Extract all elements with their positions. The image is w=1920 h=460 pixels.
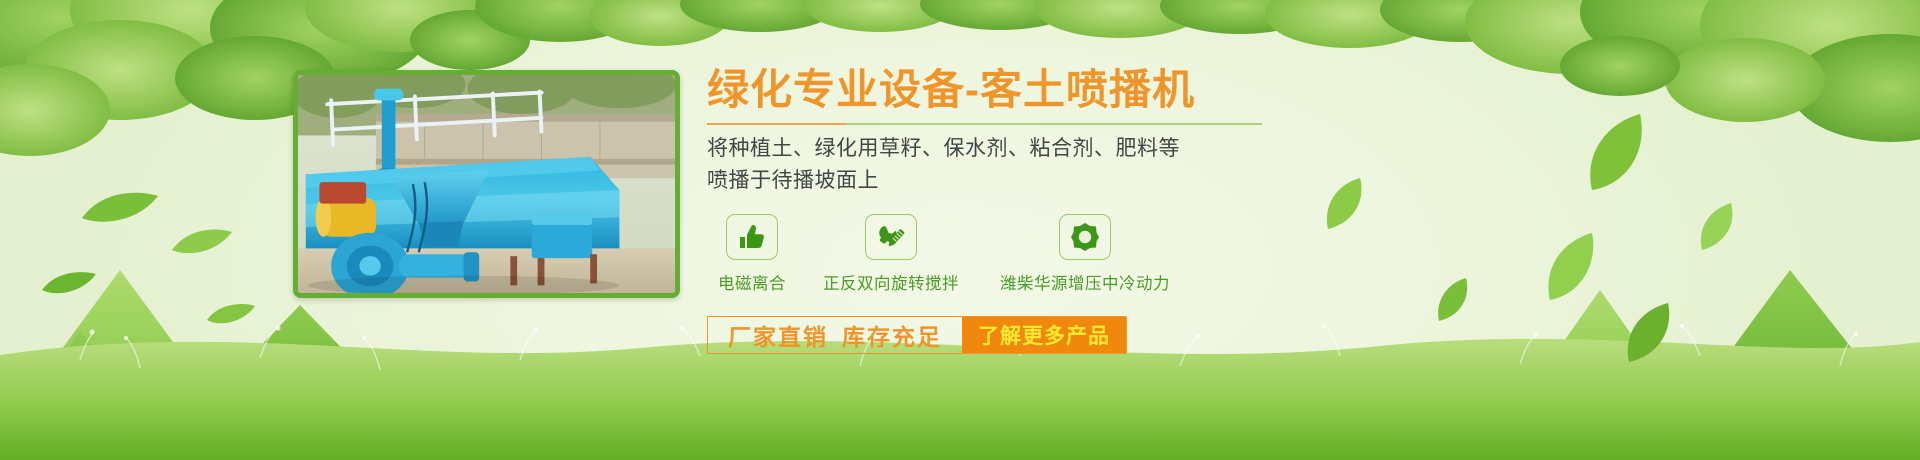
wrench-screwdriver-icon [877,223,905,251]
feature-icon-box [865,214,917,260]
feature-label: 正反双向旋转搅拌 [807,270,975,294]
thumbs-up-icon [738,224,766,250]
feature-icon-box [726,214,778,260]
feature-item-weichai-power[interactable]: 潍柴华源增压中冷动力 [985,214,1185,294]
subtitle-line-2: 喷播于待播坡面上 [707,166,1807,196]
learn-more-button[interactable]: 了解更多产品 [962,317,1126,353]
feature-label: 潍柴华源增压中冷动力 [985,270,1185,294]
floating-leaf-icon [170,225,234,259]
gear-ring-icon [1070,222,1100,252]
feature-icon-box [1059,214,1111,260]
feature-list: 电磁离合 [707,214,1267,294]
product-photo[interactable] [293,70,680,298]
cta-strip: 厂家直销 库存充足 了解更多产品 [707,316,1127,354]
title-divider [707,123,1262,125]
cta-slogan-part-1: 厂家直销 [728,318,828,352]
feature-item-bidirectional-mixing[interactable]: 正反双向旋转搅拌 [807,214,975,294]
floating-leaf-icon [40,268,98,298]
cta-slogan-part-2: 库存充足 [842,318,942,352]
floating-leaf-icon [205,300,257,328]
feature-label: 电磁离合 [707,270,797,294]
product-photo-image [298,75,675,297]
page-title: 绿化专业设备-客土喷播机 [707,66,1807,114]
cta-slogan: 厂家直销 库存充足 [708,317,962,353]
feature-item-electromagnetic-clutch[interactable]: 电磁离合 [707,214,797,294]
promo-banner: 绿化专业设备-客土喷播机 将种植土、绿化用草籽、保水剂、粘合剂、肥料等 喷播于待… [0,0,1920,460]
floating-leaf-icon [80,188,160,228]
subtitle-line-1: 将种植土、绿化用草籽、保水剂、粘合剂、肥料等 [707,134,1807,164]
banner-content: 绿化专业设备-客土喷播机 将种植土、绿化用草籽、保水剂、粘合剂、肥料等 喷播于待… [707,66,1807,354]
